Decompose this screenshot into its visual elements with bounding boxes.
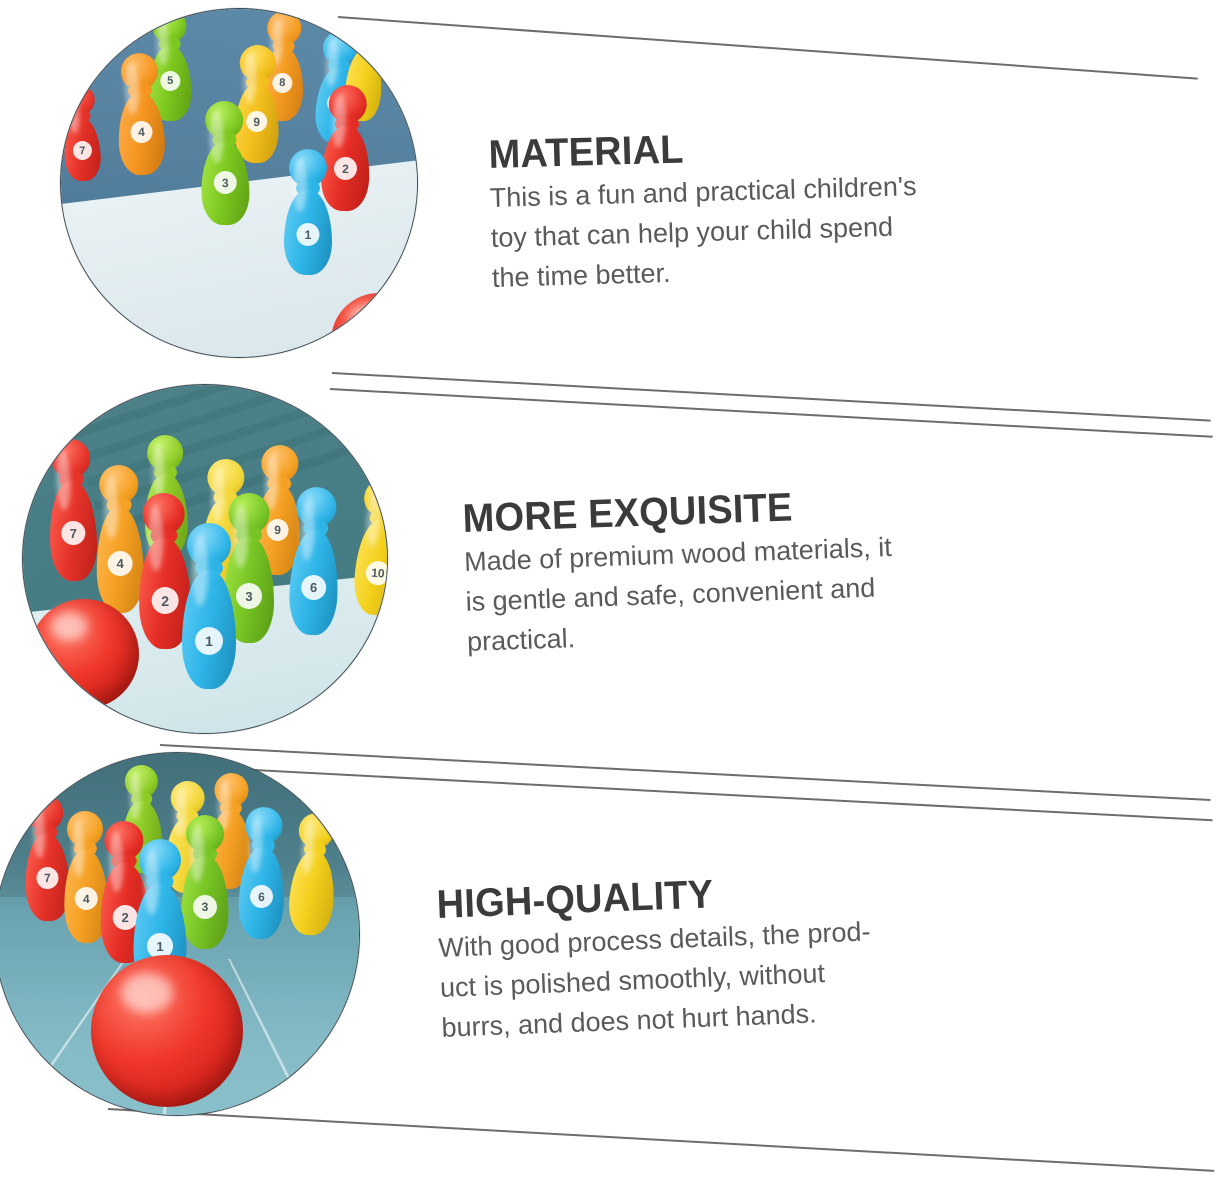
- infographic-canvas: 7 8 5: [0, 0, 1226, 1185]
- divider-line-bottom: [108, 1108, 1214, 1172]
- scene-backdrop-1: 7 8 5: [60, 8, 418, 358]
- pin-4: 4: [113, 52, 169, 176]
- scene-backdrop-3: 7 4 3 6: [0, 752, 360, 1116]
- section-text-more-exquisite: MORE EXQUISITE Made of premium wood mate…: [462, 483, 895, 662]
- lane-line: [227, 959, 360, 1116]
- photo-high-quality: 7 4 3 6: [0, 752, 360, 1116]
- body-material: This is a fun and practical children's t…: [489, 166, 919, 298]
- pin-6: 6: [285, 486, 344, 636]
- pin-1: 1: [281, 149, 335, 275]
- section-text-material: MATERIAL This is a fun and practical chi…: [488, 122, 919, 298]
- bowling-ball: [91, 955, 243, 1107]
- pin-6: 6: [235, 806, 290, 940]
- bowling-ball: [29, 599, 139, 709]
- pin-3: 3: [197, 101, 253, 226]
- body-more-exquisite: Made of premium wood materials, it is ge…: [464, 527, 896, 662]
- scene-backdrop-2: 9 7 4 3: [22, 384, 388, 734]
- photo-material: 7 8 5: [60, 8, 418, 358]
- photo-more-exquisite: 9 7 4 3: [22, 384, 388, 734]
- section-text-high-quality: HIGH-QUALITY With good process details, …: [436, 867, 874, 1047]
- pin-7: 7: [60, 84, 105, 182]
- divider-line-top: [338, 16, 1198, 80]
- pin-yellow-right: [285, 812, 341, 937]
- pin-1: 1: [179, 523, 239, 689]
- body-high-quality: With good process details, the prod- uct…: [438, 911, 875, 1048]
